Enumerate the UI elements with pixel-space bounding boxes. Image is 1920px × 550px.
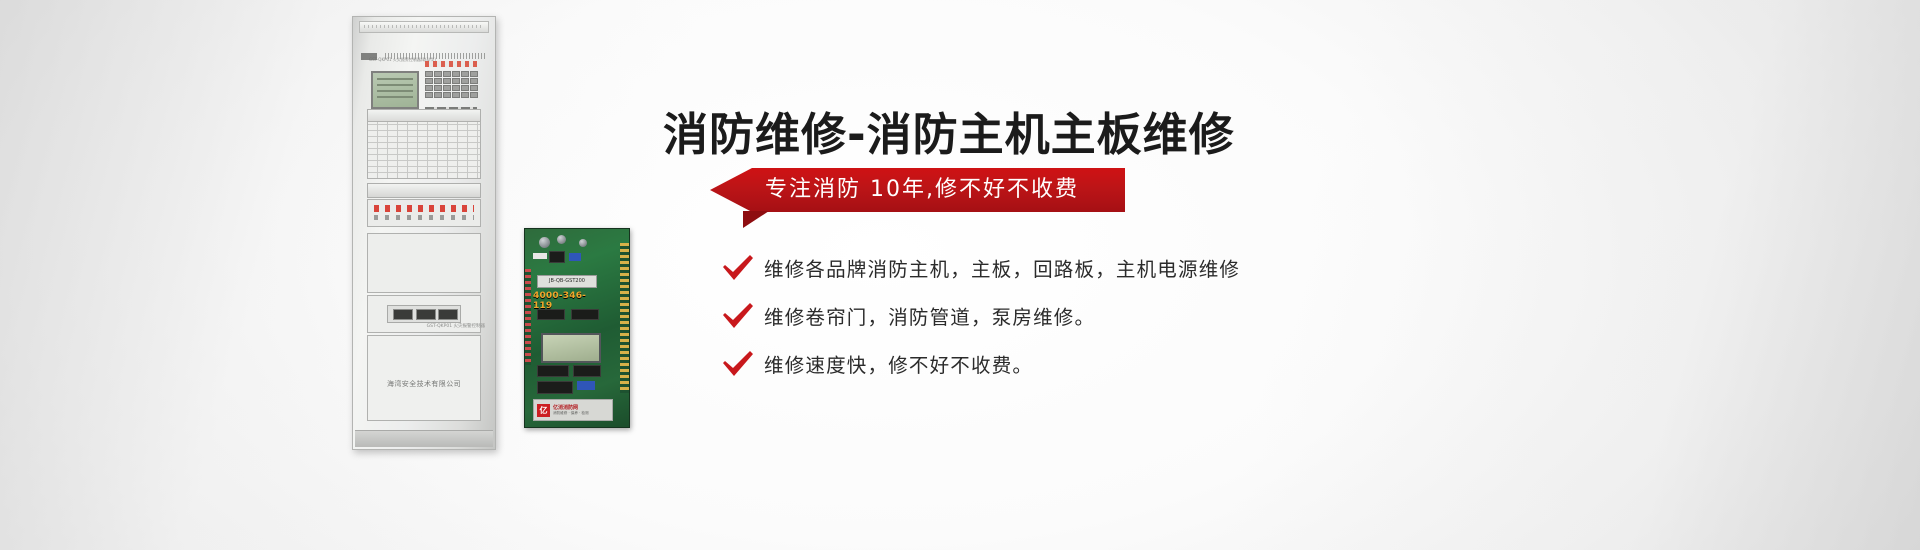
cabinet-company-name: 海湾安全技术有限公司	[353, 379, 495, 389]
cabinet-module-slot	[367, 183, 481, 198]
cabinet-zone-indicator-matrix	[367, 121, 481, 179]
pcb-ic-chip	[571, 309, 599, 320]
pcb-ic-chip	[537, 365, 569, 377]
promo-banner: GST-QKP01 火灾报警控制器(联动型) GST-QKP01 火灾报警控制器	[0, 0, 1920, 550]
check-icon	[718, 299, 764, 331]
pcb-capacitor	[539, 237, 550, 248]
list-item: 维修各品牌消防主机，主板，回路板，主机电源维修	[718, 243, 1818, 291]
cabinet-blank-panel	[367, 233, 481, 293]
cabinet-indicator-lamps	[367, 199, 481, 227]
pcb-ic-chip	[549, 251, 565, 263]
copy-block: 消防维修-消防主机主板维修 专注消防 10年,修不好不收费 维修各品牌消防主机，…	[663, 0, 1843, 550]
cabinet-base	[355, 430, 493, 447]
cabinet-vent	[359, 21, 489, 33]
pcb-resistor	[533, 253, 547, 259]
pcb-gold-finger-connector	[620, 243, 629, 393]
pcb-terminal-block	[525, 269, 531, 365]
ribbon-label: 专注消防 10年,修不好不收费	[765, 168, 1079, 212]
list-item: 维修速度快，修不好不收费。	[718, 339, 1818, 387]
check-icon	[718, 251, 764, 283]
cabinet-meter-display	[387, 305, 461, 323]
cabinet-brand-text	[385, 53, 487, 59]
cabinet-led-strip	[425, 61, 477, 67]
pcb-brand-badge: 亿 亿消消防网 消防维修 · 保养 · 检测	[533, 399, 613, 421]
list-item-label: 维修卷帘门，消防管道，泵房维修。	[764, 301, 1095, 330]
pcb-capacitor	[557, 235, 566, 244]
fire-alarm-control-cabinet-image: GST-QKP01 火灾报警控制器(联动型) GST-QKP01 火灾报警控制器	[352, 16, 496, 450]
list-item: 维修卷帘门，消防管道，泵房维修。	[718, 291, 1818, 339]
pcb-ic-chip	[573, 365, 601, 377]
cabinet-logo	[361, 53, 377, 60]
check-icon	[718, 347, 764, 379]
pcb-ic-chip	[537, 309, 565, 320]
list-item-label: 维修速度快，修不好不收费。	[764, 349, 1033, 378]
pcb-brand-subtitle: 消防维修 · 保养 · 检测	[553, 411, 589, 415]
slogan-ribbon: 专注消防 10年,修不好不收费	[710, 168, 1125, 212]
pcb-microcontroller	[537, 381, 573, 394]
feature-list: 维修各品牌消防主机，主板，回路板，主机电源维修 维修卷帘门，消防管道，泵房维修。…	[718, 243, 1818, 387]
pcb-capacitor	[579, 239, 587, 247]
cabinet-lcd-screen	[371, 71, 419, 109]
pcb-trimmer	[569, 253, 581, 261]
pcb-brand-mark: 亿	[537, 404, 550, 417]
cabinet-keypad	[425, 71, 477, 105]
ribbon-fold-tail	[743, 211, 769, 228]
cabinet-lower-blank-panel	[367, 335, 481, 421]
pcb-service-phone: 4000-346-119	[533, 291, 605, 302]
circuit-board-image: JB-QB-GST200 4000-346-119 亿 亿消消防网 消防维修 ·…	[524, 228, 630, 428]
pcb-trimmer	[577, 381, 595, 390]
pcb-lcd-module	[541, 333, 601, 363]
pcb-model-sticker: JB-QB-GST200	[537, 275, 597, 288]
cabinet-model-note: GST-QKP01 火灾报警控制器	[427, 323, 485, 329]
page-title: 消防维修-消防主机主板维修	[663, 98, 1235, 163]
pcb-brand-name-text: 亿消消防网	[553, 405, 578, 411]
list-item-label: 维修各品牌消防主机，主板，回路板，主机电源维修	[764, 253, 1240, 282]
pcb-brand-name: 亿消消防网 消防维修 · 保养 · 检测	[553, 405, 589, 416]
